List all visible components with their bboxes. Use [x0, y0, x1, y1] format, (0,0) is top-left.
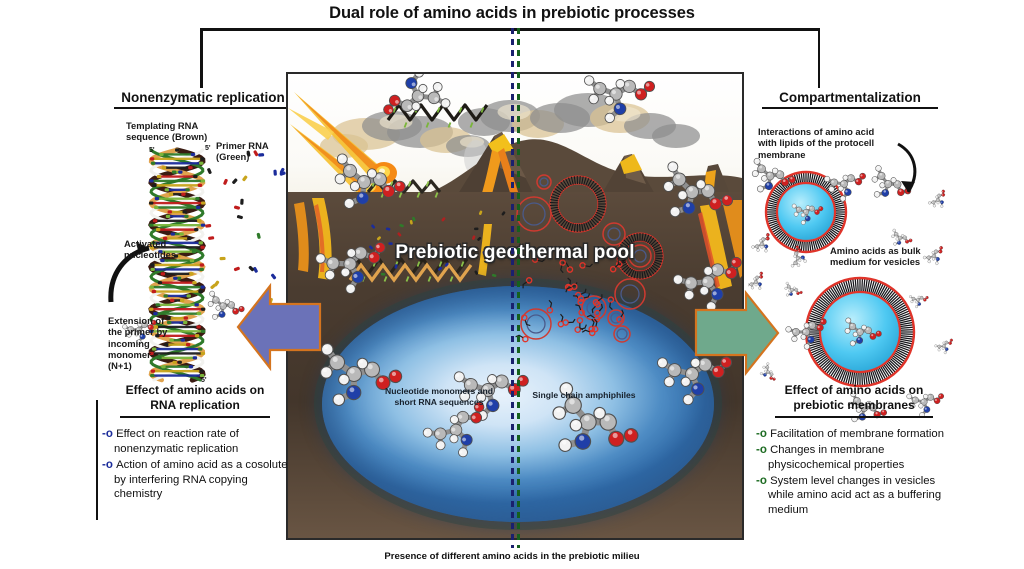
right-branch-arrow [694, 290, 780, 376]
bracket-left-leg [200, 28, 203, 88]
bottom-caption: Presence of different amino acids in the… [0, 551, 1024, 562]
bracket-horizontal [200, 28, 820, 31]
svg-text:5': 5' [205, 145, 211, 152]
list-item-text: Action of amino acid as a cosolute by in… [114, 459, 288, 501]
left-branch-arrow [236, 282, 322, 372]
label-activated-nucleotides: Activated nucleotides [124, 238, 194, 261]
panel-title: Effect of amino acids on RNA replication [102, 383, 288, 413]
right-effects-panel: Effect of amino acids on prebiotic membr… [756, 383, 952, 519]
label-nucleotide-monomers: Nucleotide monomers and short RNA sequen… [374, 386, 504, 407]
bullet-marker: -o [756, 444, 770, 456]
list-item: -o Action of amino acid as a cosolute by… [102, 458, 288, 502]
bullet-marker: -o [102, 428, 116, 440]
figure-canvas: Dual role of amino acids in prebiotic pr… [0, 0, 1024, 569]
left-bullet-list: -o Effect on reaction rate of nonenzymat… [102, 427, 288, 502]
left-effects-panel: Effect of amino acids on RNA replication… [102, 383, 288, 503]
label-primer-extension: Extension of the primer by incoming mono… [108, 315, 176, 371]
list-item: -o Effect on reaction rate of nonenzymat… [102, 427, 288, 457]
bullet-marker: -o [102, 459, 116, 471]
rna-replication-illustration: 5'5'5' [105, 120, 305, 420]
pool-title-label: Prebiotic geothermal pool [288, 242, 742, 264]
label-bulk-medium: Amino acids as bulk medium for vesicles [830, 245, 940, 268]
list-item-text: Changes in membrane physicochemical prop… [768, 444, 904, 471]
divider-line-blue [511, 28, 514, 548]
list-item-text: Effect on reaction rate of nonenzymatic … [114, 428, 239, 455]
central-scene: Prebiotic geothermal pool Nucleotide mon… [286, 72, 744, 540]
list-item: -o System level changes in vesicles whil… [756, 474, 952, 518]
list-item-text: Facilitation of membrane formation [770, 428, 944, 440]
divider-line-green [517, 28, 520, 548]
label-single-chain-amphiphiles: Single chain amphiphiles [520, 390, 648, 401]
right-bullet-list: -o Facilitation of membrane formation-o … [756, 427, 952, 518]
bullet-marker: -o [756, 428, 770, 440]
panel-underline [775, 416, 933, 418]
label-primer-rna: Primer RNA (Green) [216, 140, 296, 163]
svg-text:5': 5' [149, 147, 155, 154]
left-panel-edge [96, 400, 98, 520]
heading-underline [114, 107, 292, 109]
panel-underline [120, 416, 270, 418]
panel-title: Effect of amino acids on prebiotic membr… [756, 383, 952, 413]
bracket-right-leg [818, 28, 821, 88]
list-item: -o Changes in membrane physicochemical p… [756, 443, 952, 473]
label-lipid-interactions: Interactions of amino acid with lipids o… [758, 126, 878, 160]
left-branch-heading: Nonenzymatic replication [108, 90, 298, 109]
heading-underline [762, 107, 938, 109]
list-item-text: System level changes in vesicles while a… [768, 475, 941, 517]
list-item: -o Facilitation of membrane formation [756, 427, 952, 442]
page-title: Dual role of amino acids in prebiotic pr… [0, 4, 1024, 23]
bullet-marker: -o [756, 475, 770, 487]
right-branch-heading: Compartmentalization [750, 90, 950, 109]
pool-contents [288, 74, 742, 538]
